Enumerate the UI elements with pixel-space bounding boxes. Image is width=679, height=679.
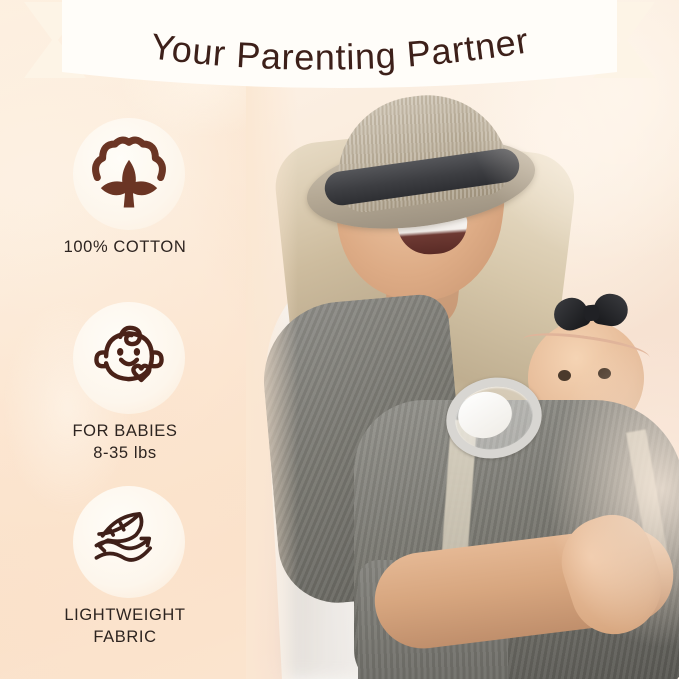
title-text-wrapper: Your Parenting Partner (0, 0, 679, 112)
feature-item-cotton: 100% COTTON (0, 110, 250, 294)
baby-bow-icon (552, 292, 629, 334)
cotton-boll-icon (85, 130, 173, 218)
product-infographic: Your Parenting Partner (0, 0, 679, 679)
baby-eye-right (598, 368, 611, 379)
feature-label-cotton: 100% COTTON (0, 236, 250, 258)
feature-item-babies: FOR BABIES 8-35 lbs (0, 294, 250, 478)
baby-face-icon (85, 314, 173, 402)
feature-label-babies: FOR BABIES 8-35 lbs (0, 420, 250, 464)
feature-list: 100% COTTON (0, 110, 250, 662)
bow-knot (583, 304, 600, 321)
page-title: Your Parenting Partner (148, 19, 531, 77)
baby-eye-left (558, 370, 571, 381)
feature-item-lightweight: LIGHTWEIGHT FABRIC (0, 478, 250, 662)
feature-label-lightweight: LIGHTWEIGHT FABRIC (0, 604, 250, 648)
feather-fabric-icon (85, 498, 173, 586)
